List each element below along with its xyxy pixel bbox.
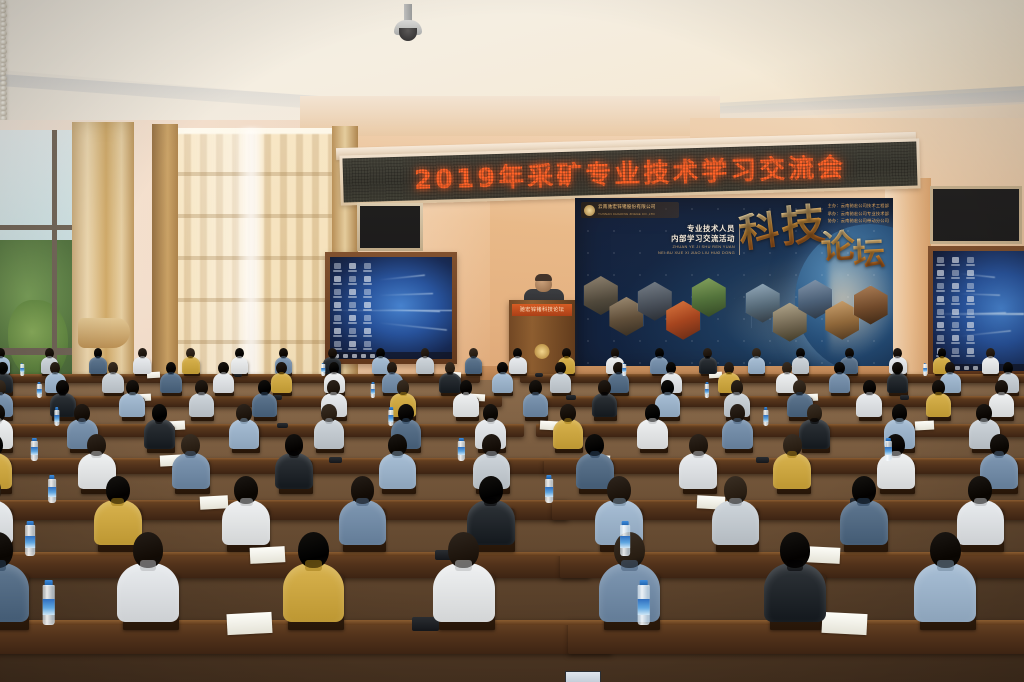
desktop-icon <box>952 270 959 276</box>
desktop-icon-label <box>966 277 975 279</box>
attendee-neck <box>657 356 662 359</box>
attendee-neck <box>787 451 797 458</box>
attendee-neck <box>648 418 656 424</box>
desktop-icon <box>364 276 371 282</box>
attendee-neck <box>847 356 852 359</box>
smartphone <box>329 457 342 464</box>
attendee-neck <box>613 498 626 507</box>
attendee-neck <box>289 451 299 458</box>
attendee-neck <box>78 418 86 424</box>
attendee-neck <box>947 372 953 376</box>
attendee-neck <box>484 498 497 507</box>
attendee-neck <box>935 392 942 397</box>
attendee <box>189 380 215 416</box>
smartphone <box>566 395 575 400</box>
attendee <box>416 348 434 373</box>
desktop-icon-label <box>966 264 975 266</box>
conference-room-photo: 2019年采矿专业技术学习交流会 云南驰宏锌锗股份有限公司 YUNNAN CHI… <box>0 0 1024 682</box>
attendee-neck <box>356 498 369 507</box>
attendee-torso <box>0 563 29 622</box>
desktop-icon-label <box>936 290 945 292</box>
attendee-neck <box>91 451 101 458</box>
attendee-neck <box>895 418 903 424</box>
desktop-icon-label <box>966 290 975 292</box>
projector-box-right <box>930 186 1022 244</box>
attendee-torso <box>592 393 618 417</box>
desktop-icon <box>952 283 959 289</box>
attendee <box>637 404 668 447</box>
water-bottle <box>620 521 630 556</box>
water-bottle <box>48 475 56 503</box>
attendee-neck <box>140 560 157 571</box>
audience-area <box>0 300 1024 682</box>
sponsor-line-3: 协办：云南驰宏公司带动分公司 <box>828 217 889 225</box>
desktop-icon-label <box>333 270 342 272</box>
attendee <box>339 476 387 543</box>
water-bottle <box>704 382 709 398</box>
backdrop-subtitle-line2: 内部学习交流活动 <box>651 234 735 244</box>
attendee-neck <box>532 392 539 397</box>
attendee-neck <box>726 372 732 376</box>
water-bottle <box>321 363 325 376</box>
attendee-neck <box>261 392 268 397</box>
water-bottle <box>37 382 42 398</box>
attendee-neck <box>0 418 2 424</box>
attendee-torso <box>160 373 181 393</box>
attendee-neck <box>392 451 402 458</box>
attendee-torso <box>840 500 888 545</box>
bottle-label <box>885 447 891 455</box>
desktop-icon-label <box>951 264 960 266</box>
attendee <box>887 362 908 392</box>
attendee-neck <box>111 498 124 507</box>
attendee-neck <box>487 418 495 424</box>
projector-box-left-face <box>360 206 420 248</box>
attendee-neck <box>798 356 803 359</box>
attendee-neck <box>47 356 52 359</box>
smartphone <box>277 423 288 429</box>
attendee-torso <box>637 419 668 448</box>
attendee <box>856 380 882 416</box>
water-bottle <box>458 438 465 461</box>
attendee-neck <box>185 451 195 458</box>
desktop-icon <box>937 270 944 276</box>
backdrop-sponsor-block: 主办：云南驰宏公司技术工程部 承办：云南驰宏公司专业技术部 协办：云南驰宏公司带… <box>828 202 889 225</box>
attendee-neck <box>325 418 333 424</box>
attendee-neck <box>198 392 205 397</box>
attendee <box>592 380 618 416</box>
bottle-label <box>54 415 59 422</box>
attendee-torso <box>523 393 549 417</box>
backdrop-title-char-4: 坛 <box>852 237 886 271</box>
attendee-neck <box>664 392 671 397</box>
attendee-torso <box>887 373 908 393</box>
attendee-head <box>0 434 3 456</box>
desktop-icon-label <box>363 283 372 285</box>
attendee-neck <box>400 392 407 397</box>
attendee-neck <box>866 392 873 397</box>
bottle-label <box>923 368 927 373</box>
projector-box-left <box>357 203 423 251</box>
attendee <box>829 362 850 392</box>
notebook <box>250 546 286 564</box>
attendee-neck <box>500 372 506 376</box>
smartphone <box>900 395 909 400</box>
attendee-neck <box>994 451 1004 458</box>
attendee <box>492 362 513 392</box>
desktop-icon-label <box>348 296 357 298</box>
water-bottle <box>622 363 626 376</box>
attendee-torso <box>189 393 215 417</box>
bottle-label <box>763 415 768 422</box>
attendee-neck <box>810 418 818 424</box>
attendee-neck <box>305 560 322 571</box>
attendee-neck <box>486 451 496 458</box>
attendee <box>275 434 313 487</box>
attendee <box>764 532 826 619</box>
bottle-label <box>637 599 650 615</box>
attendee <box>283 532 345 619</box>
attendee-neck <box>857 498 870 507</box>
attendee-torso <box>117 563 179 622</box>
smartphone <box>234 373 242 377</box>
backdrop-title-char-1: 科 <box>737 210 782 255</box>
bottle-label <box>371 389 375 394</box>
backdrop-subtitle-block: 专业技术人员 内部学习交流活动 ZHUAN YE JI SHU REN YUAN… <box>651 224 740 255</box>
attendee-neck <box>140 356 145 359</box>
attendee-torso <box>722 419 753 448</box>
attendee <box>773 434 811 487</box>
attendee-torso <box>213 373 234 393</box>
attendee <box>840 476 888 543</box>
attendee-neck <box>974 498 987 507</box>
bottle-label <box>48 487 56 497</box>
attendee-neck <box>0 560 6 571</box>
attendee-neck <box>155 418 163 424</box>
attendee-neck <box>784 372 790 376</box>
bottle-label <box>42 599 55 615</box>
bottle-label <box>458 447 464 455</box>
attendee-torso <box>764 563 826 622</box>
bottle-label <box>20 368 24 373</box>
attendee-torso <box>829 373 850 393</box>
attendee-neck <box>988 356 993 359</box>
desktop-icon <box>334 276 341 282</box>
water-bottle <box>42 580 55 625</box>
desktop-icon <box>952 257 959 263</box>
attendee <box>523 380 549 416</box>
desktop-icon <box>349 289 356 295</box>
attendee <box>314 404 345 447</box>
company-logo-en: YUNNAN CHIHONG ZN&GE CO.,LTD <box>598 212 655 216</box>
attendee-neck <box>787 560 804 571</box>
attendee-neck <box>796 392 803 397</box>
bottle-label <box>622 368 626 373</box>
table-edge <box>536 424 1024 427</box>
desktop-icon <box>349 263 356 269</box>
attendee-neck <box>129 392 136 397</box>
attendee-torso <box>926 393 952 417</box>
notebook <box>226 612 272 636</box>
desktop-icon-label <box>348 270 357 272</box>
desktop-icon-label <box>363 270 372 272</box>
sponsor-line-1: 主办：云南驰宏公司技术工程部 <box>828 202 889 210</box>
backdrop-title-char-3: 论 <box>820 229 856 265</box>
attendee-neck <box>331 372 337 376</box>
attendee-neck <box>693 451 703 458</box>
attendee <box>550 362 571 392</box>
desktop-icon-label <box>936 264 945 266</box>
bottle-label <box>704 389 708 394</box>
desktop-icon <box>937 257 944 263</box>
attendee-neck <box>668 372 674 376</box>
attendee-neck <box>891 451 901 458</box>
bottle-label <box>620 536 630 548</box>
water-bottle <box>371 382 376 398</box>
bottle-label <box>31 447 37 455</box>
water-bottle <box>20 363 24 376</box>
attendee-head <box>0 476 1 504</box>
attendee-neck <box>330 392 337 397</box>
attendee-torso <box>416 357 434 374</box>
attendee-neck <box>240 418 248 424</box>
attendee-neck <box>729 498 742 507</box>
attendee <box>119 380 145 416</box>
attendee-neck <box>754 356 759 359</box>
desktop-icon-label <box>348 283 357 285</box>
attendee-torso <box>283 563 345 622</box>
desktop-icon <box>334 263 341 269</box>
attendee-torso <box>119 393 145 417</box>
attendee-torso <box>773 453 811 489</box>
desktop-icon-label <box>936 277 945 279</box>
desktop-icon-label <box>951 277 960 279</box>
attendee-neck <box>998 392 1005 397</box>
attendee-torso <box>748 357 766 374</box>
wallpaper-light-ray <box>379 293 433 296</box>
backdrop-pinyin-line2: NEI BU XUE XI JIAO LIU HUO DONG <box>651 250 735 256</box>
attendee-torso <box>172 453 210 489</box>
attendee-torso <box>314 419 345 448</box>
desktop-icon <box>967 283 974 289</box>
attendee-torso <box>339 500 387 545</box>
bottle-label <box>321 368 325 373</box>
smartphone <box>535 373 543 377</box>
backdrop-subtitle-line1: 专业技术人员 <box>651 224 735 234</box>
desktop-icon <box>364 263 371 269</box>
attendee-neck <box>471 356 476 359</box>
desktop-icon-label <box>363 296 372 298</box>
attendee <box>229 404 260 447</box>
attendee-torso <box>914 563 976 622</box>
attendee <box>182 348 200 373</box>
bottle-label <box>25 536 35 548</box>
desktop-icon-label <box>333 296 342 298</box>
attendee <box>433 532 495 619</box>
water-bottle <box>923 363 927 376</box>
attendee <box>699 348 717 373</box>
attendee <box>465 348 483 373</box>
water-bottle <box>54 407 60 426</box>
bottle-label <box>545 487 553 497</box>
attendee <box>172 434 210 487</box>
attendee <box>213 362 234 392</box>
attendee <box>144 404 175 447</box>
attendee-torso <box>144 419 175 448</box>
desktop-icon <box>967 257 974 263</box>
desktop-icon <box>937 283 944 289</box>
attendee <box>133 348 151 373</box>
attendee-torso <box>229 419 260 448</box>
attendee-neck <box>402 418 410 424</box>
attendee-neck <box>564 418 572 424</box>
water-bottle <box>545 475 553 503</box>
attendee-torso <box>699 357 717 374</box>
attendee-torso <box>492 373 513 393</box>
attendee-neck <box>281 356 286 359</box>
attendee-torso <box>599 563 661 622</box>
attendee-torso <box>275 453 313 489</box>
attendee-neck <box>455 560 472 571</box>
attendee-torso <box>856 393 882 417</box>
attendee-neck <box>330 356 335 359</box>
water-bottle <box>25 521 35 556</box>
attendee-neck <box>564 356 569 359</box>
smartphone <box>756 457 769 464</box>
attendee-neck <box>937 560 954 571</box>
attendee-neck <box>733 418 741 424</box>
desktop-icon <box>349 276 356 282</box>
laptop-screen-front-row <box>566 672 600 682</box>
attendee-neck <box>601 392 608 397</box>
attendee-torso <box>222 500 270 545</box>
wallpaper-light-ray <box>379 275 425 281</box>
attendee-neck <box>447 372 453 376</box>
attendee <box>914 532 976 619</box>
notebook <box>821 612 867 636</box>
attendee-neck <box>590 451 600 458</box>
attendee-neck <box>389 372 395 376</box>
attendee-torso <box>433 563 495 622</box>
company-logo-cn: 云南驰宏锌锗股份有限公司 <box>598 204 656 210</box>
speaker-hair <box>535 274 552 281</box>
attendee-neck <box>168 372 174 376</box>
attendee-neck <box>52 372 58 376</box>
desktop-icon <box>334 289 341 295</box>
attendee-torso <box>712 500 760 545</box>
attendee-torso <box>550 373 571 393</box>
attendee-torso <box>182 357 200 374</box>
attendee <box>117 532 179 619</box>
attendee <box>926 380 952 416</box>
company-logo-icon <box>584 205 595 216</box>
attendee <box>712 476 760 543</box>
attendee-neck <box>240 498 253 507</box>
water-bottle <box>389 407 395 426</box>
sponsor-line-2: 承办：云南驰宏公司专业技术部 <box>828 210 889 218</box>
attendee <box>222 476 270 543</box>
attendee-torso <box>133 357 151 374</box>
attendee-neck <box>110 372 116 376</box>
attendee <box>748 348 766 373</box>
attendee-torso <box>465 357 483 374</box>
company-logo-plate: 云南驰宏锌锗股份有限公司 YUNNAN CHIHONG ZN&GE CO.,LT… <box>581 202 679 218</box>
bottle-label <box>37 389 41 394</box>
water-bottle <box>885 438 892 461</box>
desktop-icon-label <box>333 283 342 285</box>
attendee-neck <box>59 392 66 397</box>
desktop-icon <box>364 289 371 295</box>
attendee-neck <box>1005 372 1011 376</box>
desktop-icon-label <box>951 290 960 292</box>
notebook <box>914 421 933 431</box>
water-bottle <box>637 580 650 625</box>
attendee <box>722 404 753 447</box>
bottle-label <box>389 415 394 422</box>
attendee-neck <box>980 418 988 424</box>
water-bottle <box>763 407 769 426</box>
water-bottle <box>31 438 38 461</box>
attendee <box>160 362 181 392</box>
attendee-neck <box>237 356 242 359</box>
attendee-neck <box>621 560 638 571</box>
wall-upper-band <box>300 96 720 136</box>
